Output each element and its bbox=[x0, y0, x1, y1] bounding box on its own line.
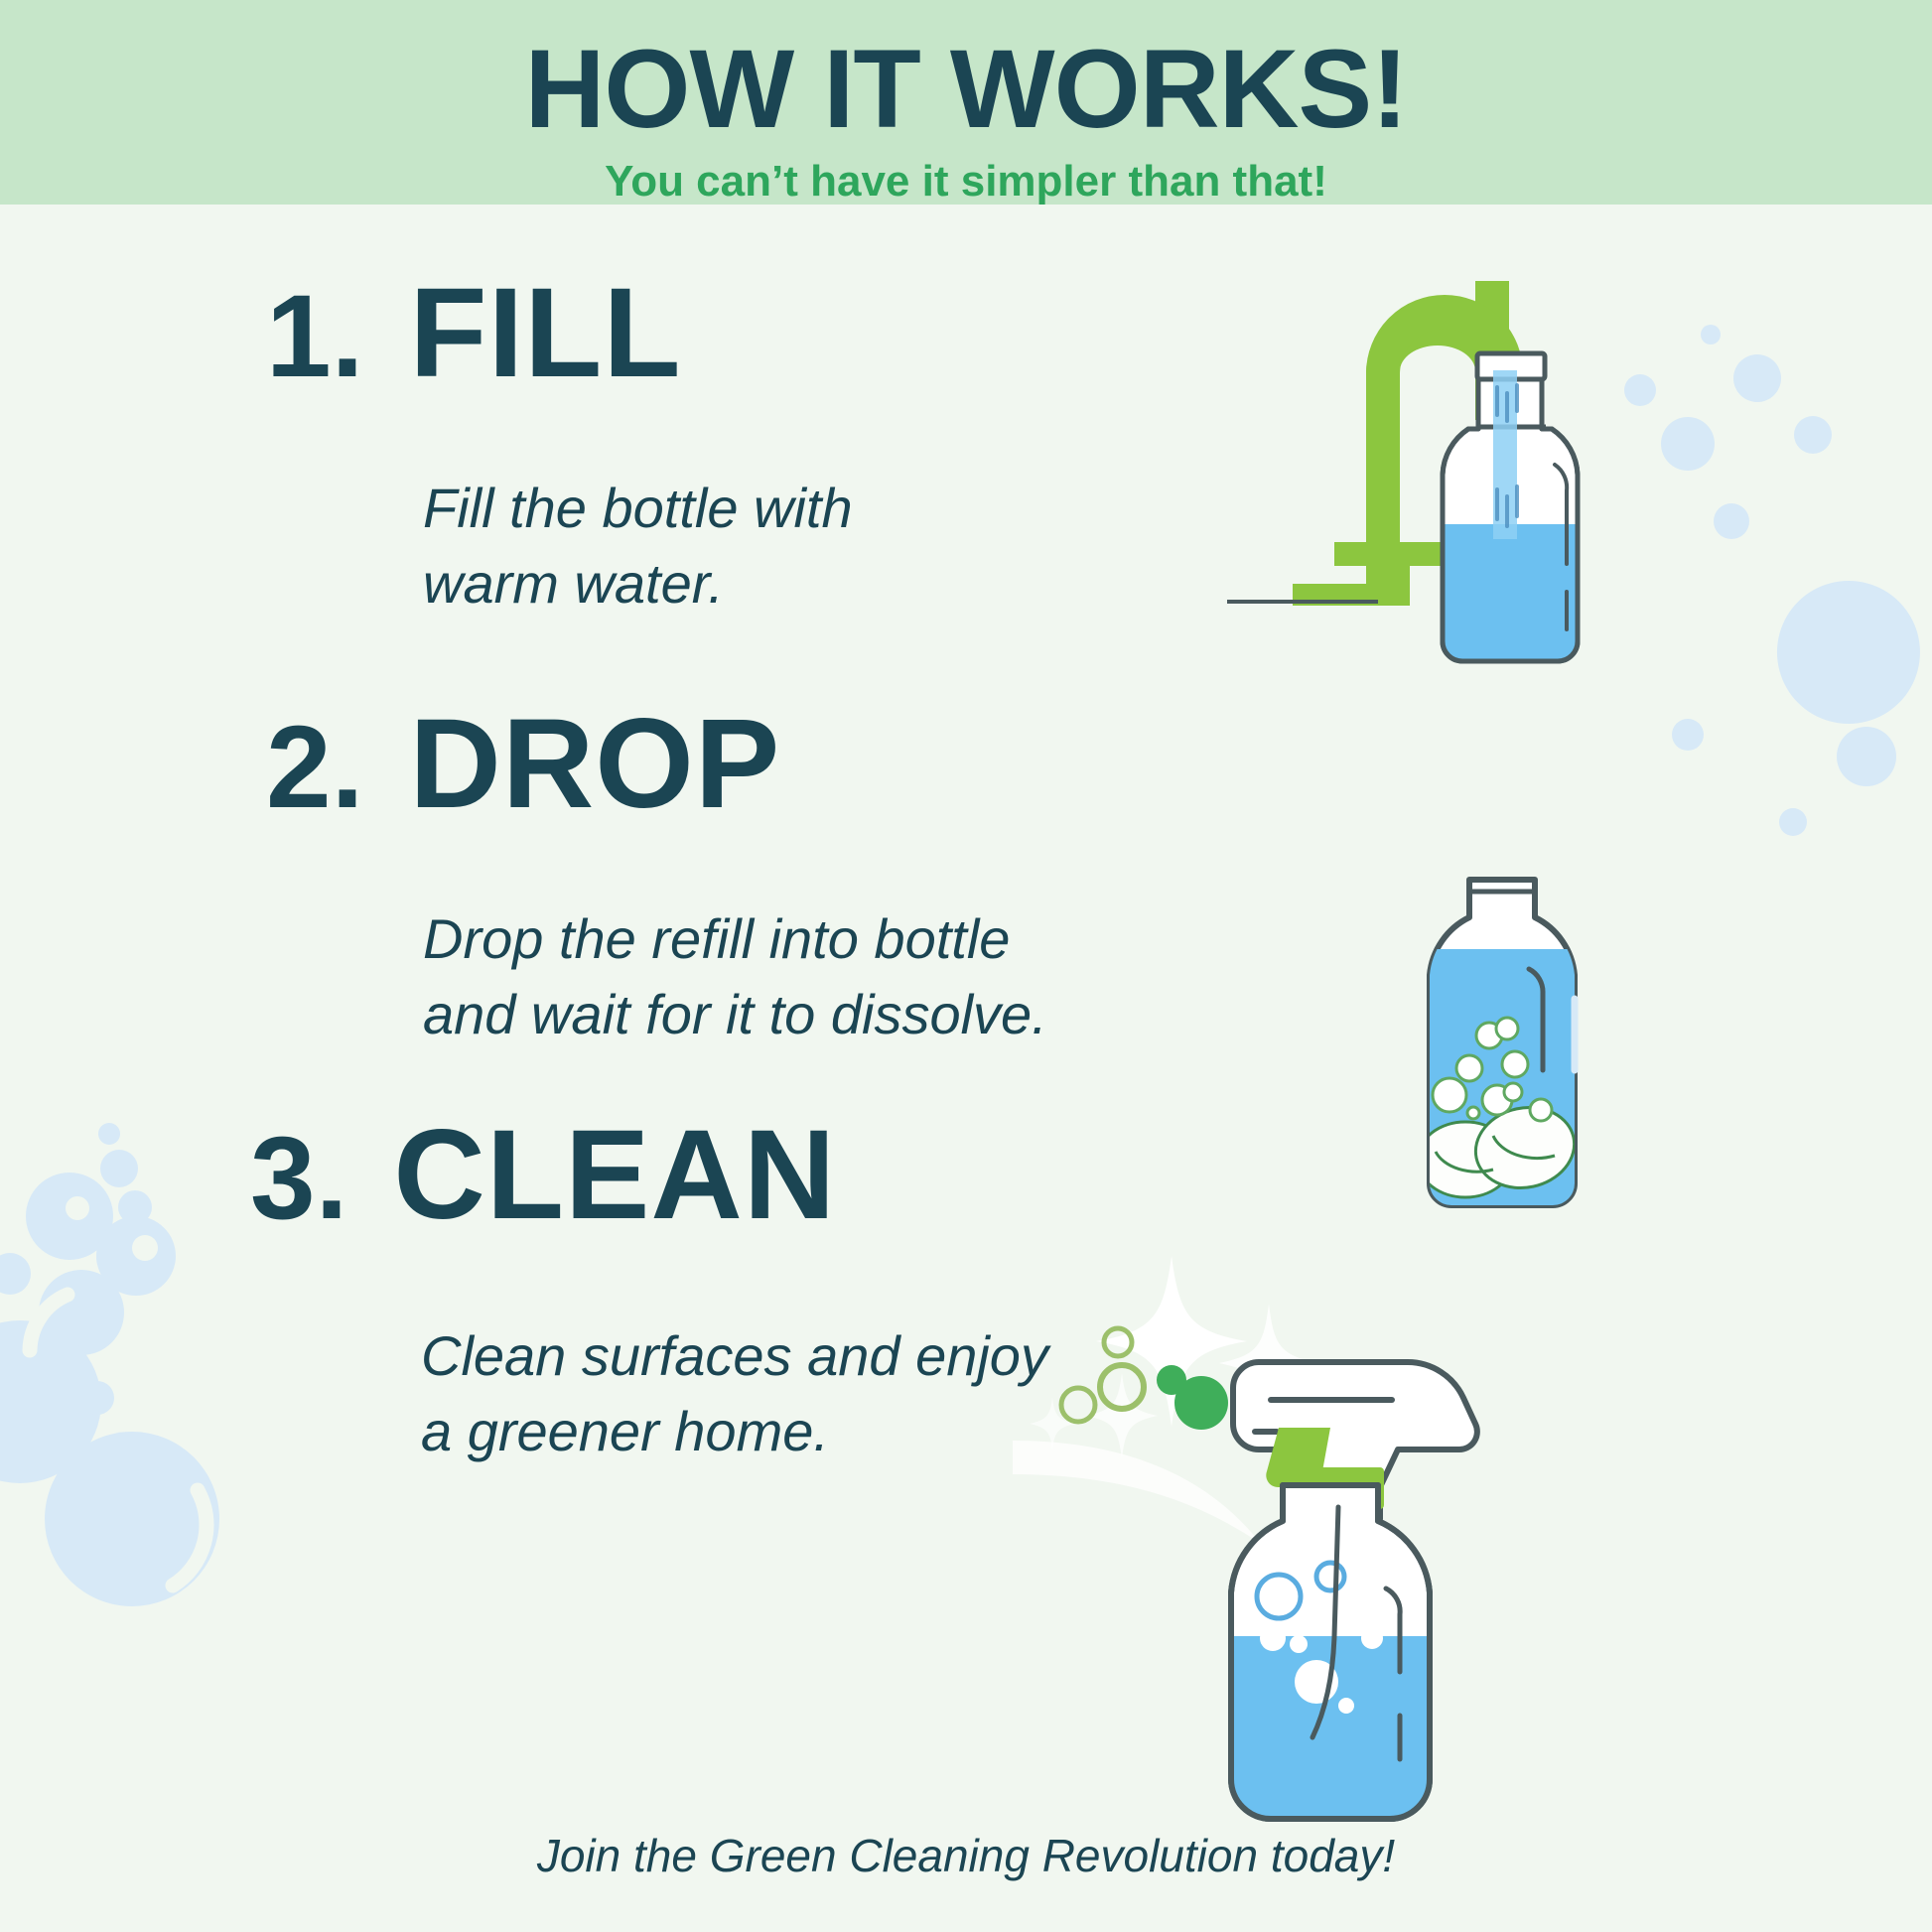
faucet-filling-bottle-icon bbox=[1227, 276, 1654, 693]
step-number: 1. bbox=[266, 278, 363, 395]
step-item-fill: 1. FILL Fill the bottle with warm water. bbox=[266, 270, 853, 621]
footer-cta: Join the Green Cleaning Revolution today… bbox=[0, 1829, 1932, 1882]
step-heading: 1. FILL bbox=[266, 270, 853, 397]
step-description: Drop the refill into bottle and wait for… bbox=[423, 901, 1047, 1051]
header-banner: HOW IT WORKS! You can’t have it simpler … bbox=[0, 0, 1932, 205]
step-description: Fill the bottle with warm water. bbox=[423, 471, 853, 621]
spray-bottle-icon bbox=[1023, 1251, 1638, 1837]
step-word: FILL bbox=[409, 270, 681, 397]
step-heading: 2. DROP bbox=[266, 701, 1047, 828]
footer-cta-text: Join the Green Cleaning Revolution today… bbox=[537, 1830, 1395, 1881]
step-word: CLEAN bbox=[393, 1112, 836, 1239]
step-number: 2. bbox=[266, 709, 363, 826]
step-description: Clean surfaces and enjoy a greener home. bbox=[421, 1318, 1048, 1468]
spray-mist bbox=[1061, 1328, 1228, 1430]
bottle-with-dissolving-tablets-icon bbox=[1378, 862, 1626, 1219]
step-item-clean: 3. CLEAN Clean surfaces and enjoy a gree… bbox=[250, 1112, 1048, 1468]
step-item-drop: 2. DROP Drop the refill into bottle and … bbox=[266, 701, 1047, 1051]
page-subtitle: You can’t have it simpler than that! bbox=[605, 157, 1327, 207]
step-number: 3. bbox=[250, 1120, 347, 1237]
step-heading: 3. CLEAN bbox=[250, 1112, 1048, 1239]
page-title: HOW IT WORKS! bbox=[524, 34, 1407, 145]
step-word: DROP bbox=[409, 701, 780, 828]
